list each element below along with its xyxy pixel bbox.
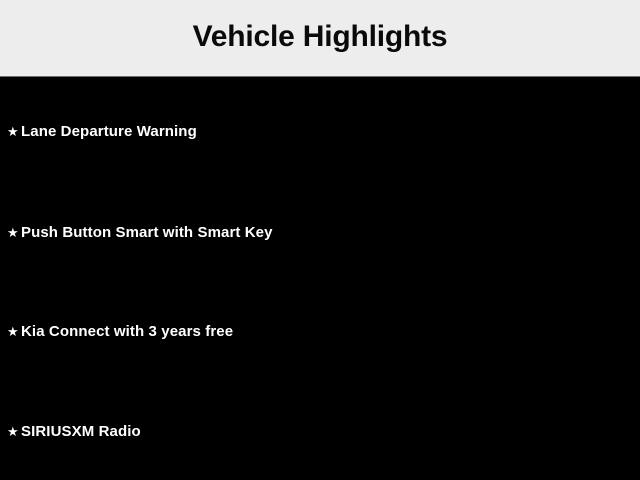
star-icon: ★ [0, 422, 21, 442]
highlight-label: SIRIUSXM Radio [21, 422, 141, 442]
list-item: ★ Kia Connect with 3 years free [0, 322, 233, 342]
highlight-label: Lane Departure Warning [21, 122, 197, 142]
list-item: ★ Lane Departure Warning [0, 122, 197, 142]
star-icon: ★ [0, 122, 21, 142]
page-title: Vehicle Highlights [193, 22, 448, 54]
highlight-label: Push Button Smart with Smart Key [21, 223, 273, 243]
star-icon: ★ [0, 322, 21, 342]
highlight-label: Kia Connect with 3 years free [21, 322, 233, 342]
list-item: ★ Push Button Smart with Smart Key [0, 223, 273, 243]
vehicle-highlights-panel: Vehicle Highlights ★ Lane Departure Warn… [0, 0, 640, 480]
panel-header: Vehicle Highlights [0, 0, 640, 77]
list-item: ★ SIRIUSXM Radio [0, 422, 141, 442]
star-icon: ★ [0, 223, 21, 243]
highlights-list: ★ Lane Departure Warning ★ Push Button S… [0, 77, 640, 480]
